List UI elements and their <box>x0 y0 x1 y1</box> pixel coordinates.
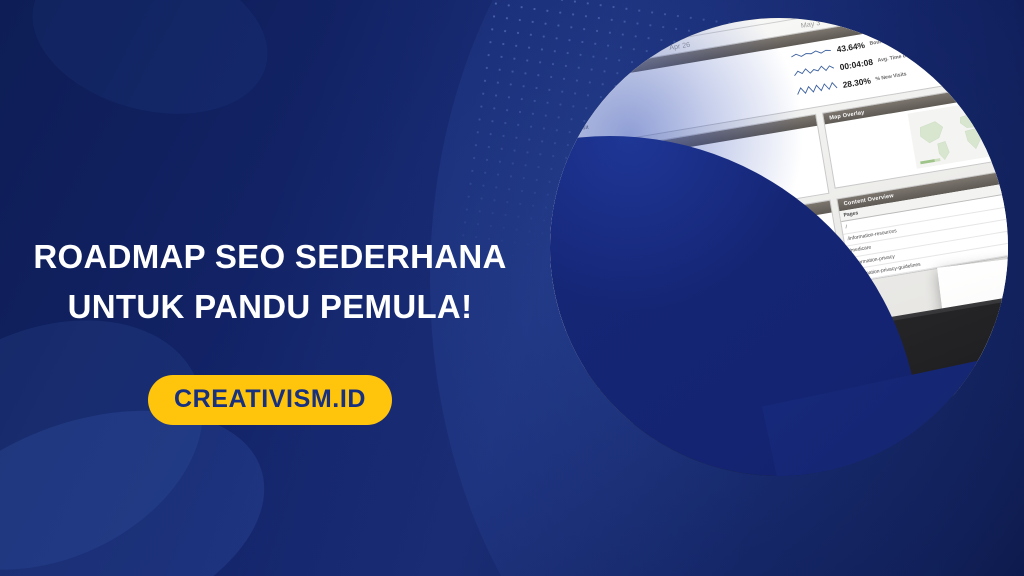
headline-line-1: ROADMAP SEO SEDERHANA <box>0 232 540 282</box>
hero-photo-circle: Apr 18, 2010 - May Comparing to <box>550 18 1008 476</box>
circle-blue-glow <box>550 18 810 318</box>
background-blob-top <box>15 0 286 139</box>
metric-value: 43.64% <box>836 40 866 55</box>
brand-badge-wrap: CREATIVISM.ID <box>0 375 540 425</box>
laptop-photo: Apr 18, 2010 - May Comparing to <box>550 18 1008 476</box>
brand-badge[interactable]: CREATIVISM.ID <box>148 375 392 425</box>
metric-label: Bounce Rate <box>869 36 901 47</box>
headline-line-2: UNTUK PANDU PEMULA! <box>0 282 540 332</box>
promo-banner: Apr 18, 2010 - May Comparing to <box>0 0 1024 576</box>
metric-value: 00:04:08 <box>839 56 874 71</box>
metric-value: 28.30% <box>842 75 872 90</box>
headline-block: ROADMAP SEO SEDERHANA UNTUK PANDU PEMULA… <box>0 232 540 425</box>
metric-label: Avg. Time on Site <box>877 51 920 64</box>
metric-label: % New Visits <box>875 71 907 82</box>
page-title: ROADMAP SEO SEDERHANA UNTUK PANDU PEMULA… <box>0 232 540 332</box>
